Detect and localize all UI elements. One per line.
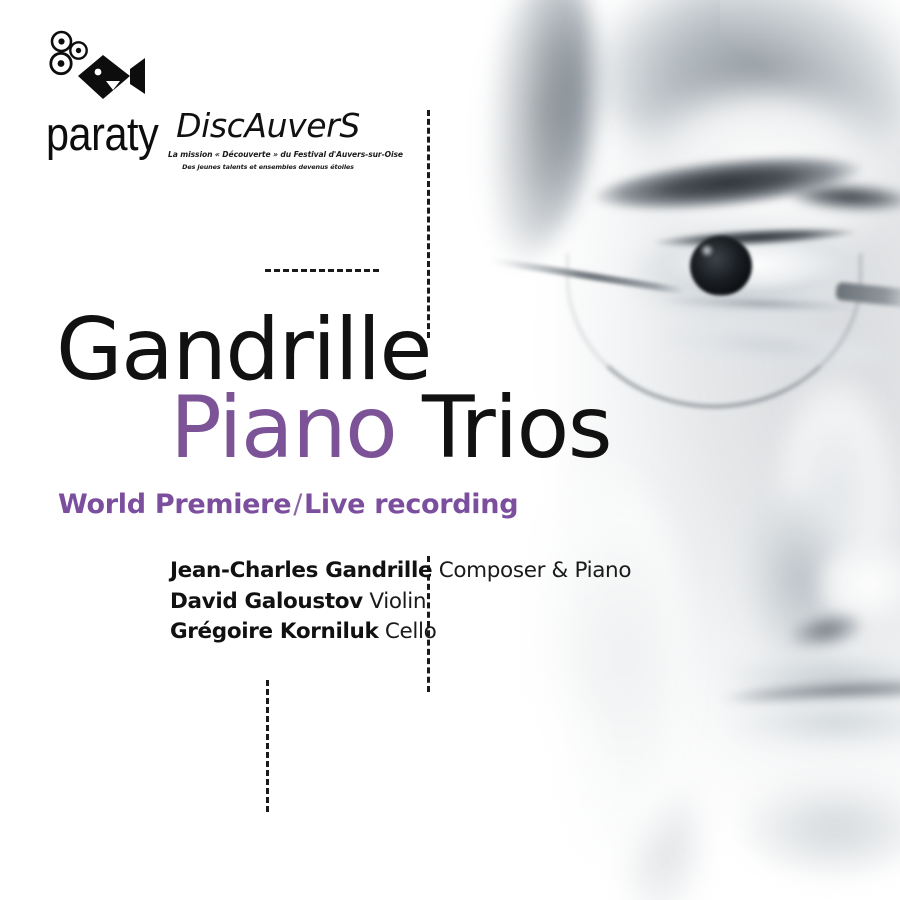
- performer-role: Violin: [369, 589, 426, 614]
- performer-name: David Galoustov: [170, 589, 363, 614]
- dashed-rule-vertical-bottom-left: [266, 680, 269, 812]
- photo-mouth-line: [699, 665, 900, 720]
- photo-eyeglass-bridge: [835, 282, 900, 308]
- performer-row: David Galoustov Violin: [170, 587, 690, 618]
- photo-eye-socket: [600, 200, 900, 350]
- paraty-wordmark: paraty: [46, 112, 152, 157]
- performer-row: Jean-Charles Gandrille Composer & Piano: [170, 556, 690, 587]
- photo-nose-tip: [810, 530, 900, 650]
- photo-eye-glint: [700, 244, 714, 257]
- performer-role: Composer & Piano: [439, 558, 631, 583]
- album-cover: paraty DiscAuverS La mission « Découvert…: [0, 0, 900, 900]
- performer-row: Grégoire Korniluk Cello: [170, 617, 690, 648]
- discauvers-wordmark: DiscAuverS: [168, 106, 368, 145]
- photo-hair-temple: [432, 0, 621, 278]
- album-title-trios: Trios: [422, 378, 611, 478]
- performer-credits: Jean-Charles Gandrille Composer & Piano …: [170, 556, 690, 648]
- dashed-rule-horizontal: [265, 269, 379, 272]
- subtitle-world-premiere: World Premiere: [58, 489, 291, 520]
- photo-top-right-fade: [720, 0, 900, 150]
- performer-role: Cello: [385, 619, 437, 644]
- album-title-line-2: Piano Trios: [170, 385, 611, 471]
- photo-eyeglass-arm: [487, 256, 686, 294]
- discauvers-tagline-primary: La mission « Découverte » du Festival d'…: [168, 150, 368, 159]
- performer-name: Jean-Charles Gandrille: [170, 558, 432, 583]
- paraty-fish-icon: [46, 28, 150, 114]
- photo-eyebrow-tail: [789, 174, 900, 222]
- subtitle-separator: /: [291, 489, 304, 520]
- performer-name: Grégoire Korniluk: [170, 619, 378, 644]
- photo-lower-eyelid: [648, 288, 875, 322]
- photo-eye-white: [648, 228, 858, 300]
- discauvers-tagline-secondary: Des jeunes talents et ensembles devenus …: [168, 163, 368, 171]
- subtitle-live-recording: Live recording: [304, 489, 518, 520]
- photo-eyebrow: [576, 136, 881, 229]
- photo-iris: [690, 236, 752, 296]
- photo-nose-shadow: [683, 459, 886, 730]
- discauvers-logo[interactable]: DiscAuverS La mission « Découverte » du …: [168, 106, 368, 171]
- photo-lower-lip: [712, 694, 900, 764]
- photo-eyelash: [639, 216, 870, 256]
- album-title-piano: Piano: [170, 378, 396, 478]
- photo-nose-ridge: [760, 330, 900, 660]
- photo-forehead: [600, 60, 900, 290]
- photo-nostril: [774, 596, 878, 664]
- paraty-logo[interactable]: paraty: [46, 28, 166, 157]
- photo-undereye: [628, 303, 900, 388]
- album-subtitle: World Premiere/Live recording: [58, 489, 518, 520]
- photo-jaw: [583, 749, 738, 900]
- photo-hair-top: [560, 0, 900, 170]
- photo-upper-lip: [706, 640, 900, 700]
- photo-chin: [720, 776, 900, 900]
